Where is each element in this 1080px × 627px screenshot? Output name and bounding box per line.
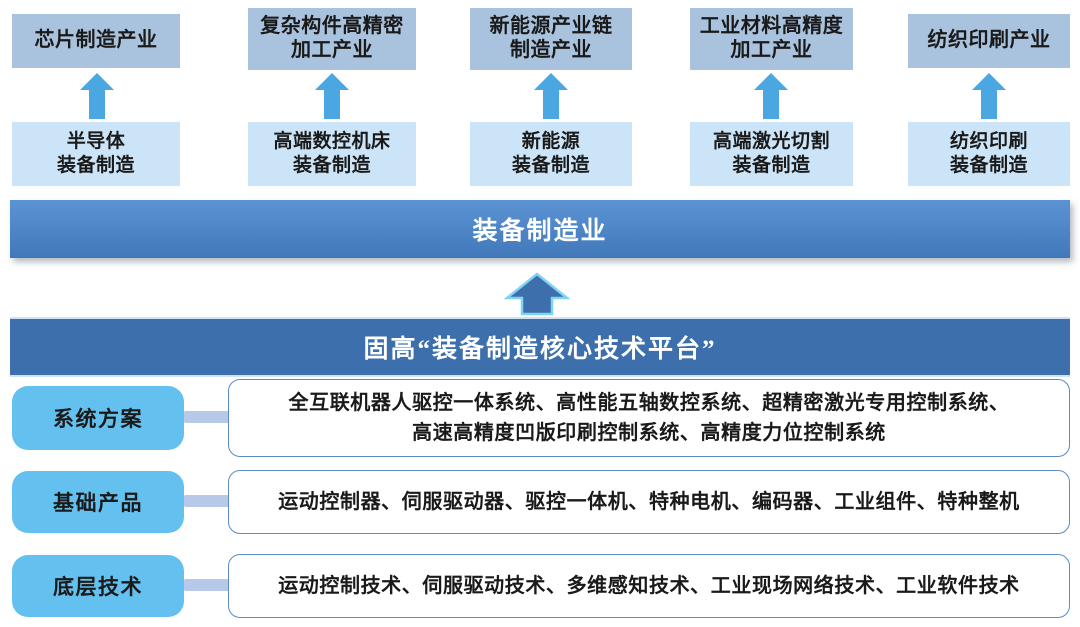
layer-desc-basic-products[interactable]: 运动控制器、伺服驱动器、驱控一体机、特种电机、编码器、工业组件、特种整机 [228, 470, 1070, 534]
arrow-up-icon-4 [753, 72, 789, 120]
banner-core-technology-platform[interactable]: 固高“装备制造核心技术平台” [10, 317, 1070, 377]
layer-desc-underlying-technology[interactable]: 运动控制技术、伺服驱动技术、多维感知技术、工业现场网络技术、工业软件技术 [228, 554, 1070, 618]
layer-pill-system-solution[interactable]: 系统方案 [12, 386, 184, 450]
equipment-box-2[interactable]: 高端数控机床 装备制造 [248, 122, 416, 186]
industry-box-4[interactable]: 工业材料高精度 加工产业 [690, 8, 853, 70]
layer-pill-underlying-technology[interactable]: 底层技术 [12, 555, 184, 617]
connector-3 [184, 579, 232, 591]
equipment-box-5[interactable]: 纺织印刷 装备制造 [908, 122, 1070, 186]
equipment-box-4[interactable]: 高端激光切割 装备制造 [690, 122, 853, 186]
arrow-up-icon-3 [533, 72, 569, 120]
industry-box-1[interactable]: 芯片制造产业 [12, 14, 180, 68]
diagram-canvas: 芯片制造产业 复杂构件高精密 加工产业 新能源产业链 制造产业 工业材料高精度 … [0, 0, 1080, 627]
arrow-up-icon-5 [971, 72, 1007, 120]
arrow-up-icon-2 [314, 72, 350, 120]
banner-equipment-manufacturing[interactable]: 装备制造业 [10, 200, 1070, 258]
connector-2 [184, 495, 232, 507]
industry-box-3[interactable]: 新能源产业链 制造产业 [470, 8, 632, 70]
industry-box-5[interactable]: 纺织印刷产业 [908, 14, 1070, 68]
arrow-up-icon-1 [79, 72, 115, 120]
arrow-up-icon-platform [504, 272, 570, 316]
connector-1 [184, 411, 232, 423]
industry-box-2[interactable]: 复杂构件高精密 加工产业 [248, 8, 416, 70]
equipment-box-3[interactable]: 新能源 装备制造 [470, 122, 632, 186]
layer-pill-basic-products[interactable]: 基础产品 [12, 471, 184, 533]
layer-desc-system-solution[interactable]: 全互联机器人驱控一体系统、高性能五轴数控系统、超精密激光专用控制系统、 高速高精… [228, 379, 1070, 457]
equipment-box-1[interactable]: 半导体 装备制造 [12, 122, 180, 186]
